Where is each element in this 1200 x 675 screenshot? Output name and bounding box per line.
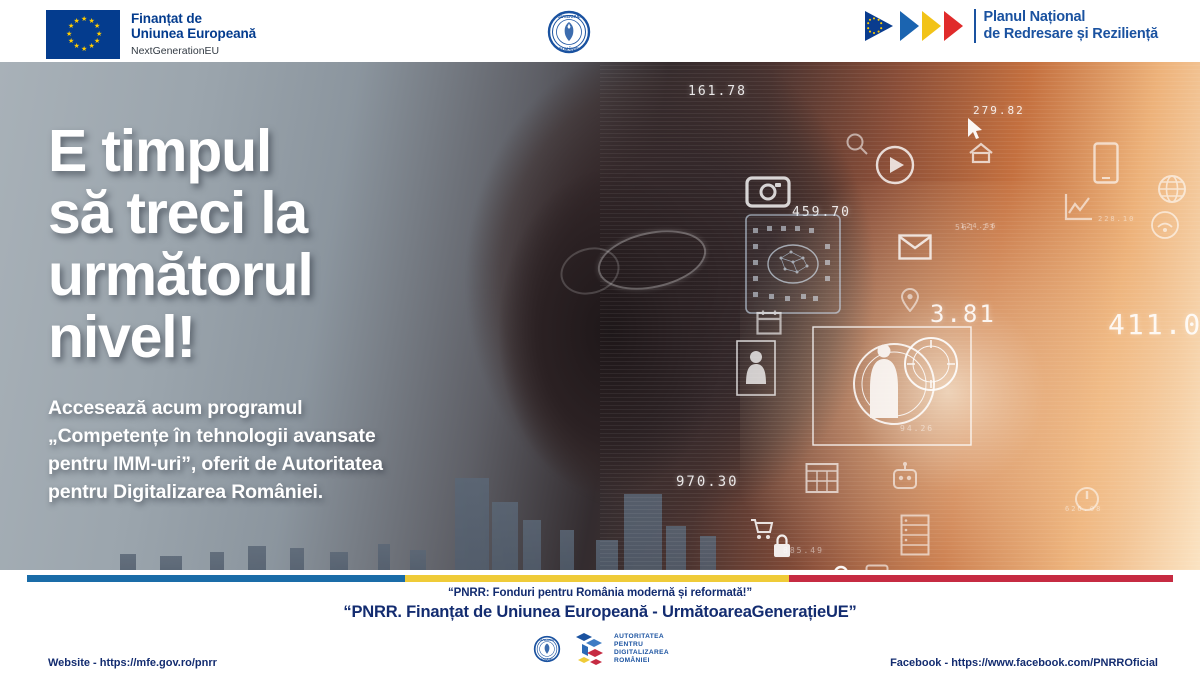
eu-logo-subtitle: NextGenerationEU (131, 44, 256, 58)
adr-line-1: AUTORITATEA (614, 633, 669, 641)
adr-cube-icon (575, 632, 607, 666)
eu-star-icon: ★ (89, 45, 93, 49)
play-button-icon (875, 145, 915, 185)
lock-icon (772, 534, 792, 558)
skyline-building (120, 554, 136, 570)
skyline-building (290, 548, 304, 570)
footer-slogan-large: “PNRR. Finanțat de Uniunea Europeană - U… (0, 603, 1200, 622)
map-pin-icon (901, 288, 919, 312)
person-icon (736, 340, 776, 396)
hud-number: 279.82 (973, 104, 1025, 117)
website-link[interactable]: Website - https://mfe.gov.ro/pnrr (48, 657, 217, 669)
power-icon (1074, 486, 1100, 512)
camera-icon (745, 174, 791, 210)
tricolor-yellow-segment (405, 575, 789, 582)
facebook-link[interactable]: Facebook - https://www.facebook.com/PNRR… (890, 657, 1158, 669)
line-chart-icon (1064, 192, 1094, 222)
hero-headline-line-4: nivel! (48, 306, 448, 368)
hud-number: 411.08 (1108, 308, 1200, 341)
pnrr-logo-line1: Planul Național (983, 9, 1158, 26)
hud-number: 3.81 (930, 300, 996, 328)
eu-star-icon: ★ (94, 25, 98, 29)
skyline-building (248, 546, 266, 570)
eu-star-icon: ★ (74, 20, 78, 24)
eu-star-icon: ★ (81, 18, 85, 22)
skyline-building (624, 494, 662, 570)
skyline-building (378, 544, 390, 570)
calendar-grid-icon (805, 460, 839, 494)
eu-star-icon: ★ (96, 33, 100, 37)
hero-headline: E timpulsă treci laurmătorulnivel! (48, 120, 448, 368)
romanian-government-seal-icon: GUVERNUL ROMÂNIEI (543, 9, 595, 55)
envelope-icon (898, 234, 932, 260)
romanian-government-seal-icon: GUVERNUL ROMÂNIEI (531, 633, 563, 665)
skyline-building (210, 552, 224, 570)
footer-slogan-small: “PNRR: Fonduri pentru România modernă și… (0, 587, 1200, 599)
top-header-bar: ★★★★★★★★★★★★ Finanțat de Uniunea Europea… (0, 0, 1200, 62)
hud-number: 124.56 (960, 222, 997, 230)
eu-star-icon: ★ (89, 20, 93, 24)
svg-text:GUVERNUL: GUVERNUL (539, 638, 554, 642)
eu-star-icon: ★ (68, 40, 72, 44)
hud-number: 970.30 (676, 474, 739, 490)
eu-star-icon: ★ (66, 33, 70, 37)
skyline-building (596, 540, 618, 570)
eu-logo-line2: Uniunea Europeană (131, 26, 256, 41)
hero-headline-line-2: să treci la (48, 182, 448, 244)
hero-headline-line-3: următorul (48, 244, 448, 306)
radial-gauge-icon (902, 335, 960, 393)
skyline-building (560, 530, 574, 570)
search-icon (845, 132, 869, 156)
hud-number: 228.10 (1098, 215, 1135, 223)
skyline-building (700, 536, 716, 570)
footer-bar: “PNRR: Fonduri pentru România modernă și… (0, 570, 1200, 675)
tricolor-blue-segment (27, 575, 405, 582)
eu-funding-logo: ★★★★★★★★★★★★ Finanțat de Uniunea Europea… (46, 10, 256, 59)
tricolor-red-segment (789, 575, 1173, 582)
adr-line-3: DIGITALIZAREA (614, 649, 669, 657)
skyline-building (666, 526, 686, 570)
skyline-building (523, 520, 541, 570)
eu-flag-icon: ★★★★★★★★★★★★ (46, 10, 120, 59)
hero-copy-block: E timpulsă treci laurmătorulnivel! Acces… (48, 120, 448, 506)
calendar-icon (756, 309, 782, 335)
pnrr-arrows-icon (863, 9, 965, 43)
home-icon (968, 142, 994, 164)
skyline-building (410, 550, 426, 570)
eu-logo-line1: Finanțat de (131, 11, 256, 26)
hero-banner: 161.78279.82459.703.81411.08970.30885.49… (0, 62, 1200, 570)
hero-headline-line-1: E timpul (48, 120, 448, 182)
shopping-cart-icon (750, 518, 774, 540)
eu-star-icon: ★ (74, 45, 78, 49)
hero-subcopy: Accesează acum programul „Competențe în … (48, 394, 423, 506)
skyline-building (455, 478, 489, 570)
brain-network-icon (745, 214, 841, 314)
adr-logo: AUTORITATEA PENTRU DIGITALIZAREA ROMÂNIE… (575, 632, 669, 666)
svg-text:ROMÂNIEI: ROMÂNIEI (559, 47, 579, 52)
globe-icon (1157, 174, 1187, 204)
pnrr-logo-line2: de Redresare și Reziliență (983, 26, 1158, 43)
svg-text:GUVERNUL: GUVERNUL (558, 14, 581, 19)
adr-line-2: PENTRU (614, 641, 669, 649)
robot-icon (890, 462, 920, 494)
cursor-arrow-icon (966, 117, 984, 141)
romanian-tricolor-divider (27, 575, 1173, 582)
adr-line-4: ROMÂNIEI (614, 657, 669, 665)
eu-star-icon: ★ (81, 48, 85, 52)
wifi-icon (1150, 210, 1180, 240)
skyline-building (160, 556, 182, 570)
government-seal-header: GUVERNUL ROMÂNIEI (543, 9, 595, 60)
skyline-building (330, 552, 348, 570)
smartphone-icon (1093, 142, 1119, 184)
pnrr-logo: Planul Național de Redresare și Rezilien… (863, 9, 1158, 43)
server-rack-icon (900, 514, 930, 556)
skyline-building (492, 502, 518, 570)
hud-number: 161.78 (688, 84, 747, 99)
eu-star-icon: ★ (68, 25, 72, 29)
